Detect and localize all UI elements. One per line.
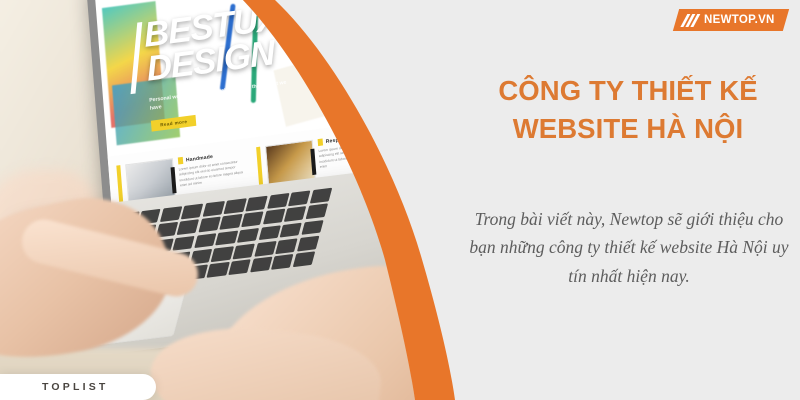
keyboard-key [258,225,281,241]
keyboard-key [181,204,204,220]
banner-canvas: BESTUX DESIGN Personal web design and de… [0,0,800,400]
keyboard-key [275,238,298,254]
keyboard-key [220,214,243,230]
card-title: Responsive [326,135,356,145]
keyboard-key [224,198,247,214]
keyboard-key [293,251,316,267]
toplist-label: TOPLIST [42,381,109,393]
card-heading: Responsive [318,130,387,146]
content-panel: NEWTOP.VN CÔNG TY THIẾT KẾ WEBSITE HÀ NỘ… [420,0,800,400]
desk-swatch [112,77,180,145]
keyboard-key [288,190,311,206]
card-accent-bar [396,128,403,168]
keyboard-key [271,254,294,270]
keyboard-key [297,236,320,252]
keyboard-key [202,201,225,217]
page-title-line2: WEBSITE HÀ NỘI [458,110,798,148]
keyboard-key [254,241,277,257]
newtop-logo[interactable]: NEWTOP.VN [672,9,789,31]
lede-paragraph: Trong bài viết này, Newtop sẽ giới thiệu… [464,205,794,290]
keyboard-key [241,212,264,228]
card-chip-icon [318,138,324,146]
keyboard-key [177,219,200,235]
card-black-bar [171,167,177,193]
hero-title: BESTUX DESIGN [143,1,283,86]
desk-hand [348,42,429,124]
desk-hand [298,0,422,90]
card-title: Handmade [186,153,213,163]
keyboard-key [207,262,230,278]
keyboard-key [267,193,290,209]
keyboard-key [301,220,324,236]
keyboard-key [305,204,328,220]
keyboard-key [228,259,251,275]
card-chip-icon [178,157,184,165]
keyboard-key [245,196,268,212]
keyboard-key [211,246,234,262]
keyboard-key [194,233,217,249]
keyboard-key [233,243,256,259]
keyboard-key [280,222,303,238]
keyboard-key [237,228,260,244]
keyboard-key [173,235,196,251]
triple-slash-icon [682,14,699,27]
keyboard-key [263,209,286,225]
toplist-tab[interactable]: TOPLIST [0,374,156,400]
hero-photo: BESTUX DESIGN Personal web design and de… [0,0,470,400]
keyboard-key [198,217,221,233]
keyboard-key [160,206,183,222]
keyboard-key [250,257,273,273]
logo-text: NEWTOP.VN [703,14,774,26]
page-title: CÔNG TY THIẾT KẾ WEBSITE HÀ NỘI [458,72,798,148]
keyboard-key [310,188,333,204]
card-thumbnail [404,132,415,151]
card-text: Lorem ipsum dolor sit amet consectetur a… [179,158,249,189]
card-black-bar [310,149,316,175]
website-hero-section: BESTUX DESIGN Personal web design and de… [95,0,429,157]
keyboard-key [284,206,307,222]
page-title-line1: CÔNG TY THIẾT KẾ [458,72,798,110]
keyboard-key [215,230,238,246]
